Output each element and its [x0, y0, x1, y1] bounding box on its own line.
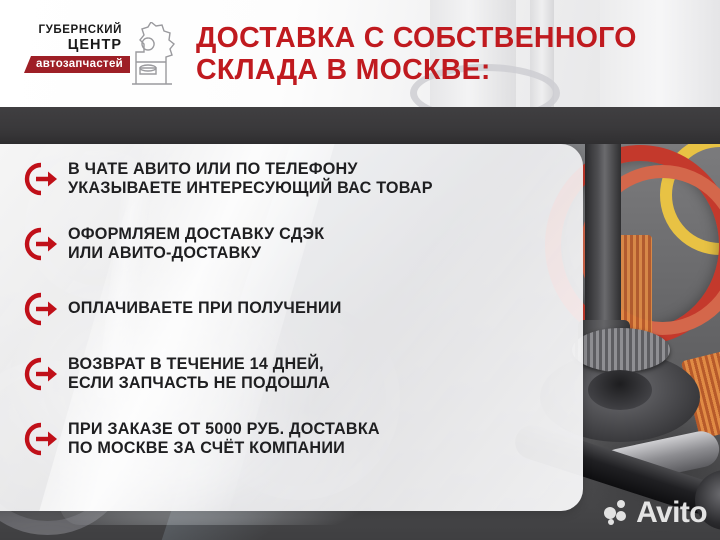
logo-badge: автозапчастей — [24, 56, 130, 73]
engine-outline-icon — [122, 22, 180, 86]
circular-arrow-right-icon — [20, 222, 68, 266]
hub-center-shape — [588, 370, 652, 410]
list-item-label: ОПЛАЧИВАЕТЕ ПРИ ПОЛУЧЕНИИ — [68, 299, 342, 319]
list-item: ПРИ ЗАКАЗЕ ОТ 5000 РУБ. ДОСТАВКА ПО МОСК… — [20, 412, 565, 466]
list-item: ВОЗВРАТ В ТЕЧЕНИЕ 14 ДНЕЙ, ЕСЛИ ЗАПЧАСТЬ… — [20, 347, 565, 401]
benefits-list: В ЧАТЕ АВИТО ИЛИ ПО ТЕЛЕФОНУ УКАЗЫВАЕТЕ … — [20, 152, 565, 477]
circular-arrow-right-icon — [20, 157, 68, 201]
list-item-label: ПРИ ЗАКАЗЕ ОТ 5000 РУБ. ДОСТАВКА ПО МОСК… — [68, 420, 380, 459]
list-item-label: ВОЗВРАТ В ТЕЧЕНИЕ 14 ДНЕЙ, ЕСЛИ ЗАПЧАСТЬ… — [68, 355, 330, 394]
circular-arrow-right-icon — [20, 417, 68, 461]
header-divider-bar — [0, 107, 720, 144]
company-logo: ГУБЕРНСКИЙ ЦЕНТР автозапчастей — [24, 24, 176, 86]
circular-arrow-right-icon — [20, 352, 68, 396]
benefits-panel: В ЧАТЕ АВИТО ИЛИ ПО ТЕЛЕФОНУ УКАЗЫВАЕТЕ … — [0, 144, 583, 511]
hub-knurled-nut-shape — [572, 328, 670, 372]
logo-line-2: ЦЕНТР — [24, 37, 122, 54]
page-title: ДОСТАВКА С СОБСТВЕННОГО СКЛАДА В МОСКВЕ: — [196, 22, 716, 86]
list-item-label: ОФОРМЛЯЕМ ДОСТАВКУ СДЭК ИЛИ АВИТО-ДОСТАВ… — [68, 225, 324, 264]
advertisement-canvas: ГУБЕРНСКИЙ ЦЕНТР автозапчастей ДОСТАВКА … — [0, 0, 720, 540]
logo-line-1: ГУБЕРНСКИЙ — [24, 24, 122, 37]
list-item-label: В ЧАТЕ АВИТО ИЛИ ПО ТЕЛЕФОНУ УКАЗЫВАЕТЕ … — [68, 160, 433, 199]
list-item: В ЧАТЕ АВИТО ИЛИ ПО ТЕЛЕФОНУ УКАЗЫВАЕТЕ … — [20, 152, 565, 206]
avito-wordmark: Avito — [636, 498, 707, 528]
circular-arrow-right-icon — [20, 287, 68, 331]
avito-dots-icon — [604, 500, 630, 526]
list-item: ОФОРМЛЯЕМ ДОСТАВКУ СДЭК ИЛИ АВИТО-ДОСТАВ… — [20, 217, 565, 271]
avito-watermark: Avito — [604, 498, 707, 528]
list-item: ОПЛАЧИВАЕТЕ ПРИ ПОЛУЧЕНИИ — [20, 282, 565, 336]
